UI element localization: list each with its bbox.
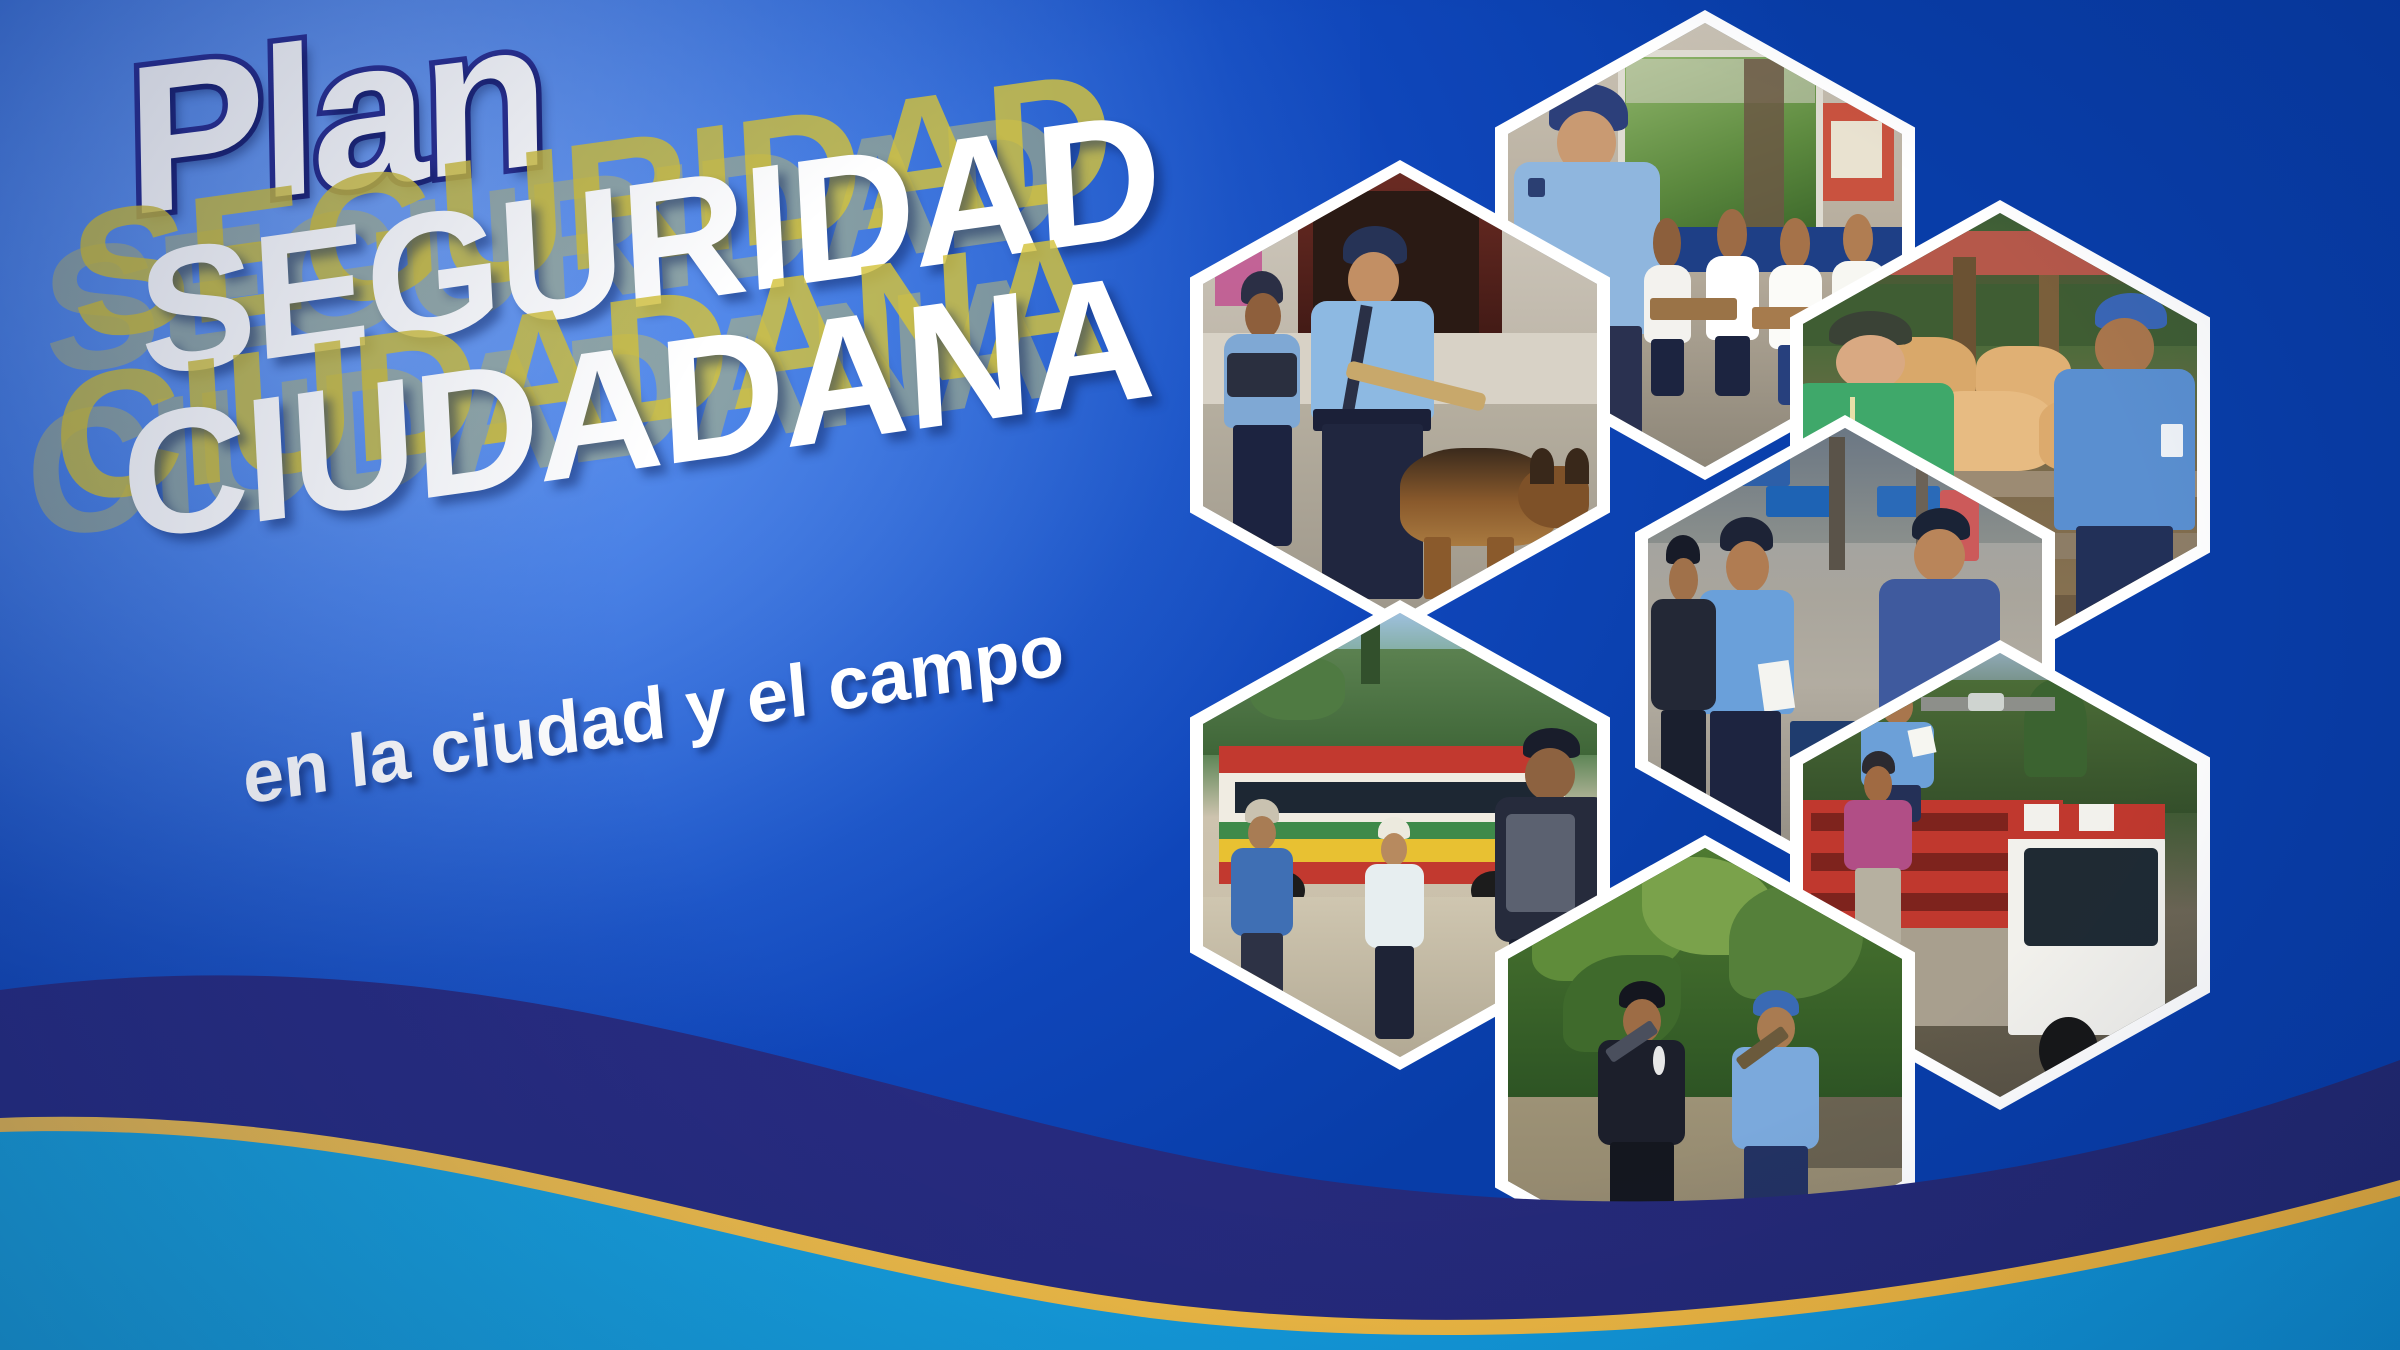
campaign-banner: Plan SEGURIDAD SEGURIDAD SEGURIDAD CIUDA… — [0, 0, 2400, 1350]
photo-k9-patrol — [1203, 173, 1597, 617]
tagline: en la ciudad y el campo — [240, 615, 1066, 813]
headline-block: Plan SEGURIDAD SEGURIDAD SEGURIDAD CIUDA… — [0, 0, 1180, 1020]
bottom-wave-decoration — [0, 930, 2400, 1350]
